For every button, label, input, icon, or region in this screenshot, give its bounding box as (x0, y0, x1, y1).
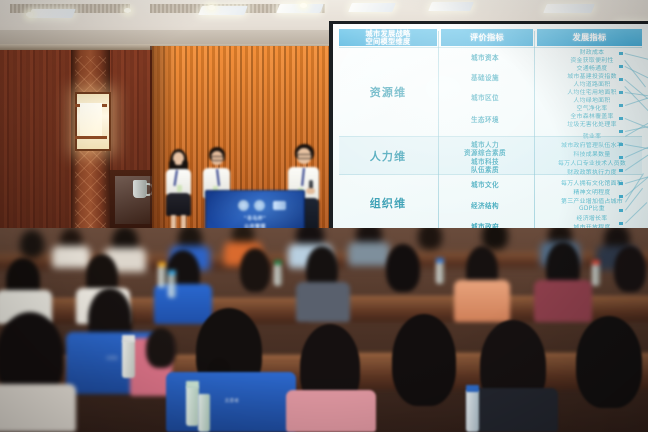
audience-far-body-2 (52, 246, 90, 268)
row-label-organization: 组织维 (339, 195, 437, 211)
conference-hall-photo: "寻乌杯" 公共管理 （学术论坛） 城市发展战略 空间模型维度 评价指标 发展指… (0, 0, 648, 432)
connector-marker-9 (619, 156, 623, 159)
connector-marker-13 (619, 209, 623, 212)
water-bottle-8[interactable] (198, 394, 210, 432)
ceiling-downlight-4 (300, 3, 307, 8)
volunteer-1-vest-text: 志愿者 (70, 356, 154, 361)
presenter-right-glasses (297, 154, 313, 159)
presenter-right-hand (306, 188, 315, 194)
audience-near-body-2 (286, 390, 376, 432)
water-bottle-cap-4 (436, 258, 444, 263)
criteria-org-1: 城市文化 (447, 181, 523, 189)
presenter-left-badge (177, 185, 182, 192)
water-bottle-cap-6 (122, 335, 135, 342)
table-header-dimension: 城市发展战略 空间模型维度 (339, 29, 437, 46)
criteria-org-2: 经济结构 (447, 202, 523, 210)
presenter-middle-glasses (211, 156, 225, 161)
indicator-r-4: 城市基建投资指数 (538, 74, 646, 81)
audience-mid-4 (240, 248, 270, 292)
indicator-h-5: 财政政策执行力度 (538, 170, 646, 177)
audience-mid-body-7 (454, 280, 510, 322)
connector-marker-6 (619, 117, 623, 120)
audience-mid-body-3 (154, 284, 212, 324)
indicator-o-3: 第三产业增加值占城市 GDP比重 (538, 199, 646, 214)
ceiling-downlight-1 (26, 12, 33, 17)
kettle (133, 180, 147, 198)
connector-marker-7 (619, 130, 623, 133)
ceiling-light-2 (198, 6, 248, 15)
connector-marker-14 (619, 222, 623, 225)
audience-near-3 (392, 314, 456, 406)
water-bottle-6[interactable] (122, 340, 135, 378)
audience-far-1 (20, 230, 44, 258)
water-bottle-9[interactable] (466, 390, 479, 432)
audience-far-body-7 (348, 242, 390, 266)
audience-near-body-1 (0, 384, 76, 432)
ceiling-downlight-2 (124, 8, 131, 13)
criteria-human-2: 城市科技 队伍素质 (447, 158, 523, 174)
table-header-dimension-line2: 空间模型维度 (366, 38, 411, 46)
water-bottle-cap-2 (168, 270, 176, 275)
connector-marker-5 (619, 104, 623, 107)
table-header-indicator: 发展指标 (537, 29, 642, 46)
audience-area: 志愿者 志愿者 (0, 228, 648, 432)
row-label-resource: 资源维 (339, 84, 437, 100)
water-bottle-cap-5 (592, 260, 600, 265)
criteria-resource-1: 城市资本 (447, 54, 523, 62)
connector-marker-3 (619, 78, 623, 81)
criteria-resource-2: 基础设施 (447, 74, 523, 82)
audience-far-8 (418, 228, 442, 250)
water-bottle-cap-9 (466, 385, 479, 392)
water-bottle-cap-1 (158, 262, 166, 267)
ceiling-light-4 (348, 3, 396, 12)
water-bottle-4[interactable] (436, 262, 444, 284)
indicator-h-1: 就业率 (538, 134, 646, 141)
connector-marker-4 (619, 91, 623, 94)
connector-marker-2 (619, 65, 623, 68)
indicator-r-10: 垃圾无害化处理率 (538, 122, 646, 129)
water-bottle-3[interactable] (274, 264, 282, 286)
audience-near-6 (146, 328, 176, 368)
connector-marker-10 (619, 169, 623, 172)
grid-hline-header (339, 47, 642, 48)
water-bottle-cap-7 (186, 381, 199, 388)
connector-marker-12 (619, 195, 623, 198)
row-label-human: 人力维 (339, 148, 437, 164)
audience-mid-9 (614, 246, 646, 292)
wall-lamp-shade (80, 103, 102, 136)
audience-near-5 (576, 316, 642, 408)
indicator-r-2: 资金获取便利性 (538, 58, 646, 65)
ceiling-light-6 (543, 4, 595, 13)
connector-marker-11 (619, 182, 623, 185)
water-bottle-1[interactable] (158, 266, 166, 288)
water-bottle-5[interactable] (592, 264, 600, 286)
table-header-criteria: 评价指标 (441, 29, 533, 46)
ceiling-downlight-3 (208, 5, 215, 10)
water-bottle-2[interactable] (168, 274, 176, 298)
slide-table: 城市发展战略 空间模型维度 评价指标 发展指标 资源维 人力维 组织维 城市资本… (333, 24, 648, 241)
wall-lamp-bar-bottom (75, 136, 107, 139)
ceiling-light-1 (28, 9, 76, 18)
water-bottle-cap-3 (274, 260, 282, 265)
criteria-resource-3: 城市区位 (447, 94, 523, 102)
audience-mid-body-8 (534, 280, 592, 322)
indicator-r-8: 空气净化率 (538, 106, 646, 113)
criteria-human-1: 城市人力 资源综合素质 (447, 141, 523, 157)
audience-near-body-4 (466, 388, 558, 432)
connector-marker-8 (619, 143, 623, 146)
criteria-resource-4: 生态环境 (447, 116, 523, 124)
presenter-left-skirt (166, 193, 191, 216)
projection-screen: 城市发展战略 空间模型维度 评价指标 发展指标 资源维 人力维 组织维 城市资本… (333, 24, 648, 241)
connector-marker-1 (619, 52, 623, 55)
audience-mid-6 (386, 244, 420, 292)
ceiling-light-5 (428, 2, 474, 11)
audience-mid-body-5 (296, 282, 350, 322)
